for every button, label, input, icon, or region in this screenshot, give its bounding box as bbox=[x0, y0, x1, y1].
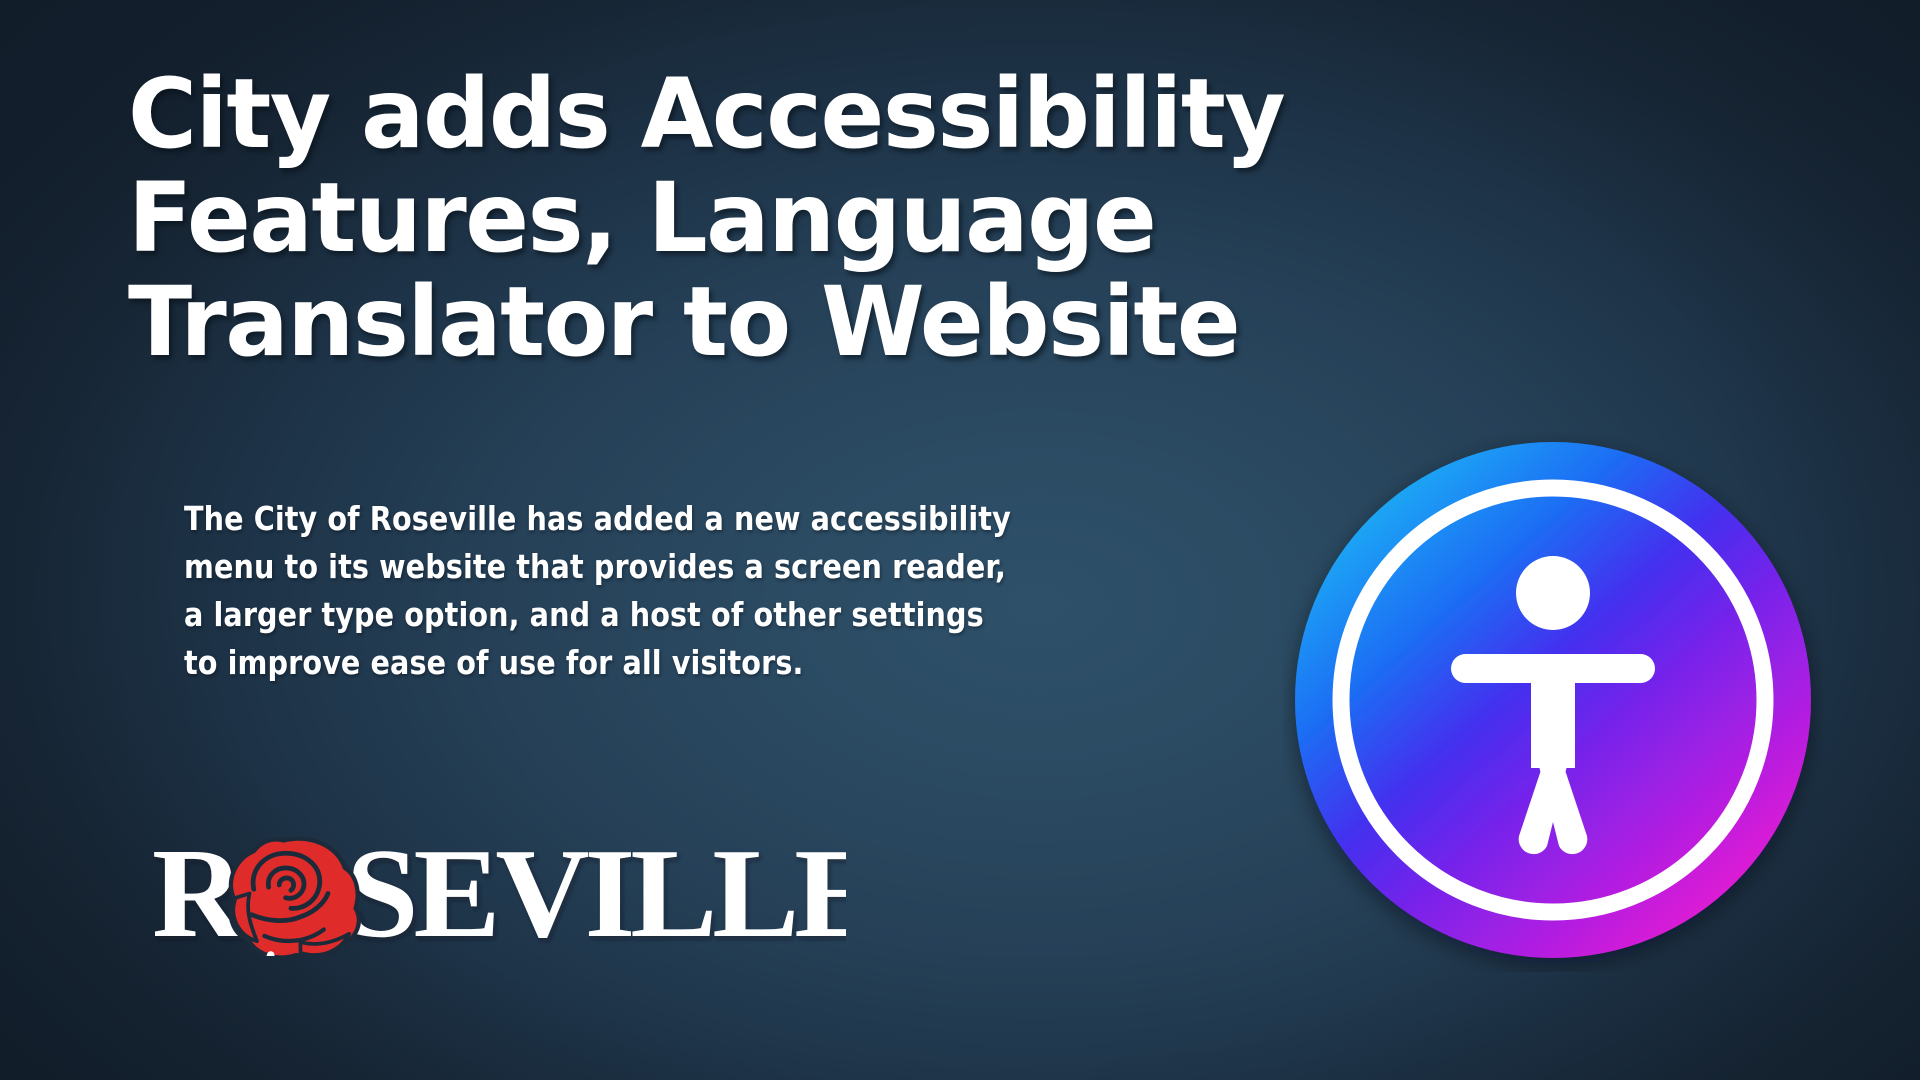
roseville-logo: R SEVILLE bbox=[146, 826, 846, 956]
body-line-2: menu to its website that provides a scre… bbox=[184, 543, 1168, 591]
accessibility-icon bbox=[1283, 432, 1823, 972]
headline-line-1: City adds Accessibility bbox=[128, 62, 1226, 166]
body-line-3: a larger type option, and a host of othe… bbox=[184, 591, 1168, 639]
headline-line-2: Features, Language bbox=[128, 166, 1226, 270]
page-title: City adds Accessibility Features, Langua… bbox=[128, 62, 1248, 374]
rose-icon bbox=[231, 839, 359, 956]
headline-line-3: Translator to Website bbox=[128, 270, 1226, 374]
news-graphic-canvas: City adds Accessibility Features, Langua… bbox=[0, 0, 1920, 1080]
body-line-1: The City of Roseville has added a new ac… bbox=[184, 495, 1168, 543]
logo-letters-seville: SEVILLE bbox=[346, 826, 846, 956]
left-content-column: City adds Accessibility Features, Langua… bbox=[128, 0, 1228, 1080]
body-line-4: to improve ease of use for all visitors. bbox=[184, 639, 1168, 687]
body-paragraph: The City of Roseville has added a new ac… bbox=[184, 495, 1204, 687]
